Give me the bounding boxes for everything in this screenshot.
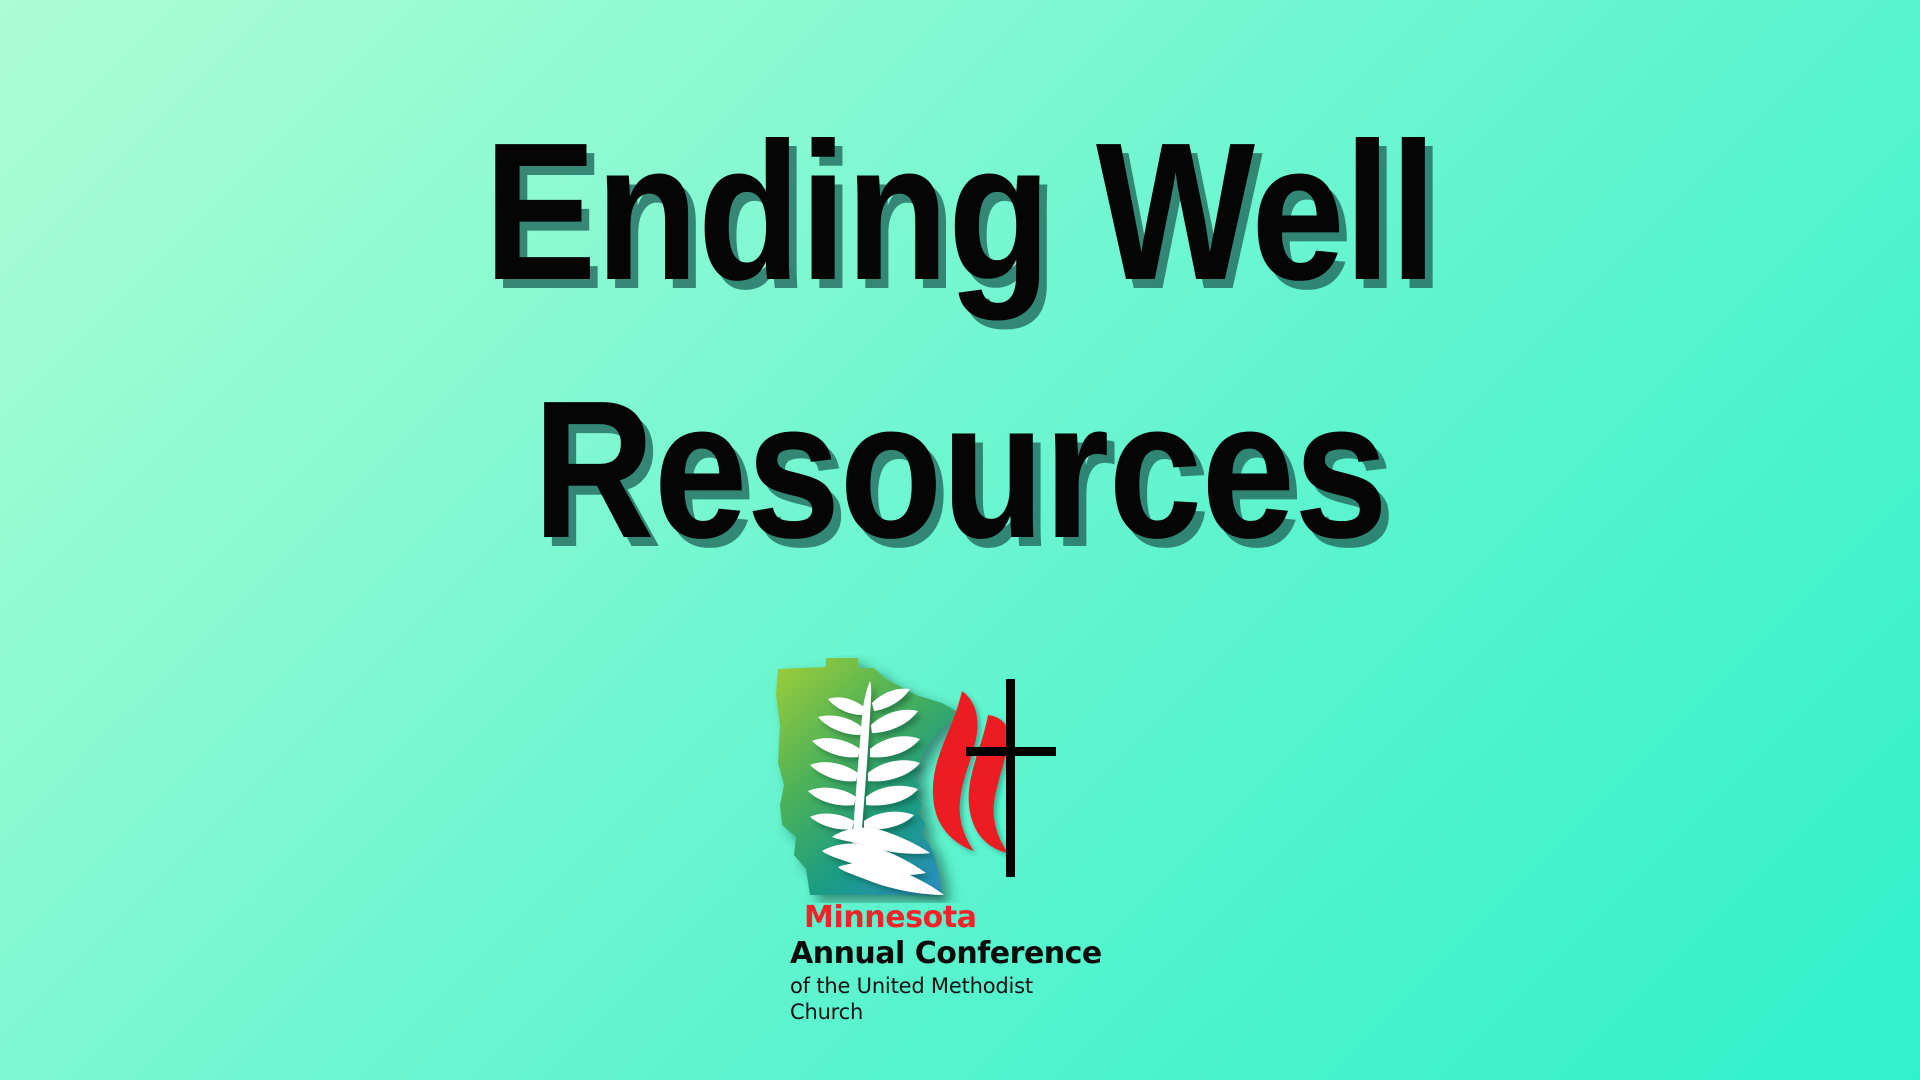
wordmark-of-the-united-methodist-church: of the United Methodist Church — [790, 973, 1110, 1025]
page-title: Ending Well Resources — [0, 96, 1920, 586]
wordmark-annual-conference: Annual Conference — [790, 936, 1110, 971]
logo-wordmark: Minnesota Annual Conference of the Unite… — [790, 901, 1110, 1025]
minnesota-umc-logo-mark — [770, 655, 1070, 903]
organization-logo: Minnesota Annual Conference of the Unite… — [770, 655, 1110, 1045]
title-line-1: Ending Well — [134, 96, 1785, 328]
title-line-2: Resources — [134, 354, 1785, 586]
slide-canvas: Ending Well Resources — [0, 0, 1920, 1080]
wordmark-minnesota: Minnesota — [804, 901, 1110, 935]
